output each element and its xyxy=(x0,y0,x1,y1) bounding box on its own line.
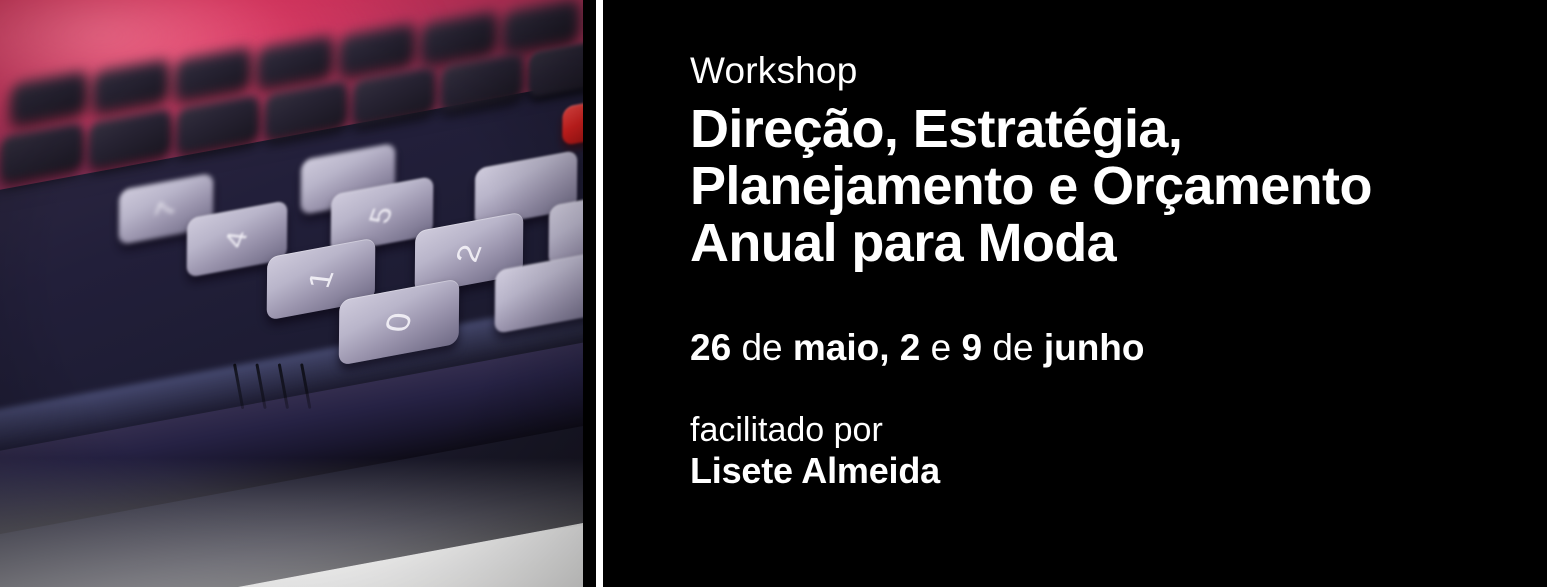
vertical-divider-rule xyxy=(596,0,603,587)
date-connector-3: de xyxy=(992,327,1033,368)
headline-line-2: Planejamento e Orçamento xyxy=(690,158,1490,215)
text-panel: Workshop Direção, Estratégia, Planejamen… xyxy=(607,0,1547,587)
calculator-key-5: 5 xyxy=(363,205,400,225)
calculator-key-2: 2 xyxy=(448,242,490,264)
date-day-1: 26 xyxy=(690,327,731,368)
date-day-3: 9 xyxy=(962,327,983,368)
date-month-1: maio, xyxy=(793,327,890,368)
calculator-key-7: 7 xyxy=(149,200,184,218)
photo-stage: 7 4 5 1 2 xyxy=(0,0,583,587)
facilitator-name: Lisete Almeida xyxy=(690,450,1507,492)
calculator-clear-key xyxy=(562,100,583,146)
date-connector-2: e xyxy=(931,327,952,368)
calculator-key-1: 1 xyxy=(300,268,342,290)
facilitator-label: facilitado por xyxy=(690,411,1507,450)
calculator-key-0: 0 xyxy=(377,310,421,333)
date-day-2: 2 xyxy=(900,327,921,368)
workshop-banner: 7 4 5 1 2 xyxy=(0,0,1547,587)
calculator-keypad: 7 4 5 1 2 xyxy=(0,0,583,587)
headline-line-1: Direção, Estratégia, xyxy=(690,101,1490,158)
calculator-key-4: 4 xyxy=(218,229,255,249)
event-dates: 26 de maio, 2 e 9 de junho xyxy=(690,328,1507,369)
headline-line-3: Anual para Moda xyxy=(690,215,1490,272)
date-month-2: junho xyxy=(1044,327,1145,368)
divider-gap-left xyxy=(583,0,596,587)
page-title: Direção, Estratégia, Planejamento e Orça… xyxy=(690,101,1490,272)
date-connector-1: de xyxy=(741,327,782,368)
calculator-photo: 7 4 5 1 2 xyxy=(0,0,583,587)
eyebrow-label: Workshop xyxy=(690,52,1507,91)
